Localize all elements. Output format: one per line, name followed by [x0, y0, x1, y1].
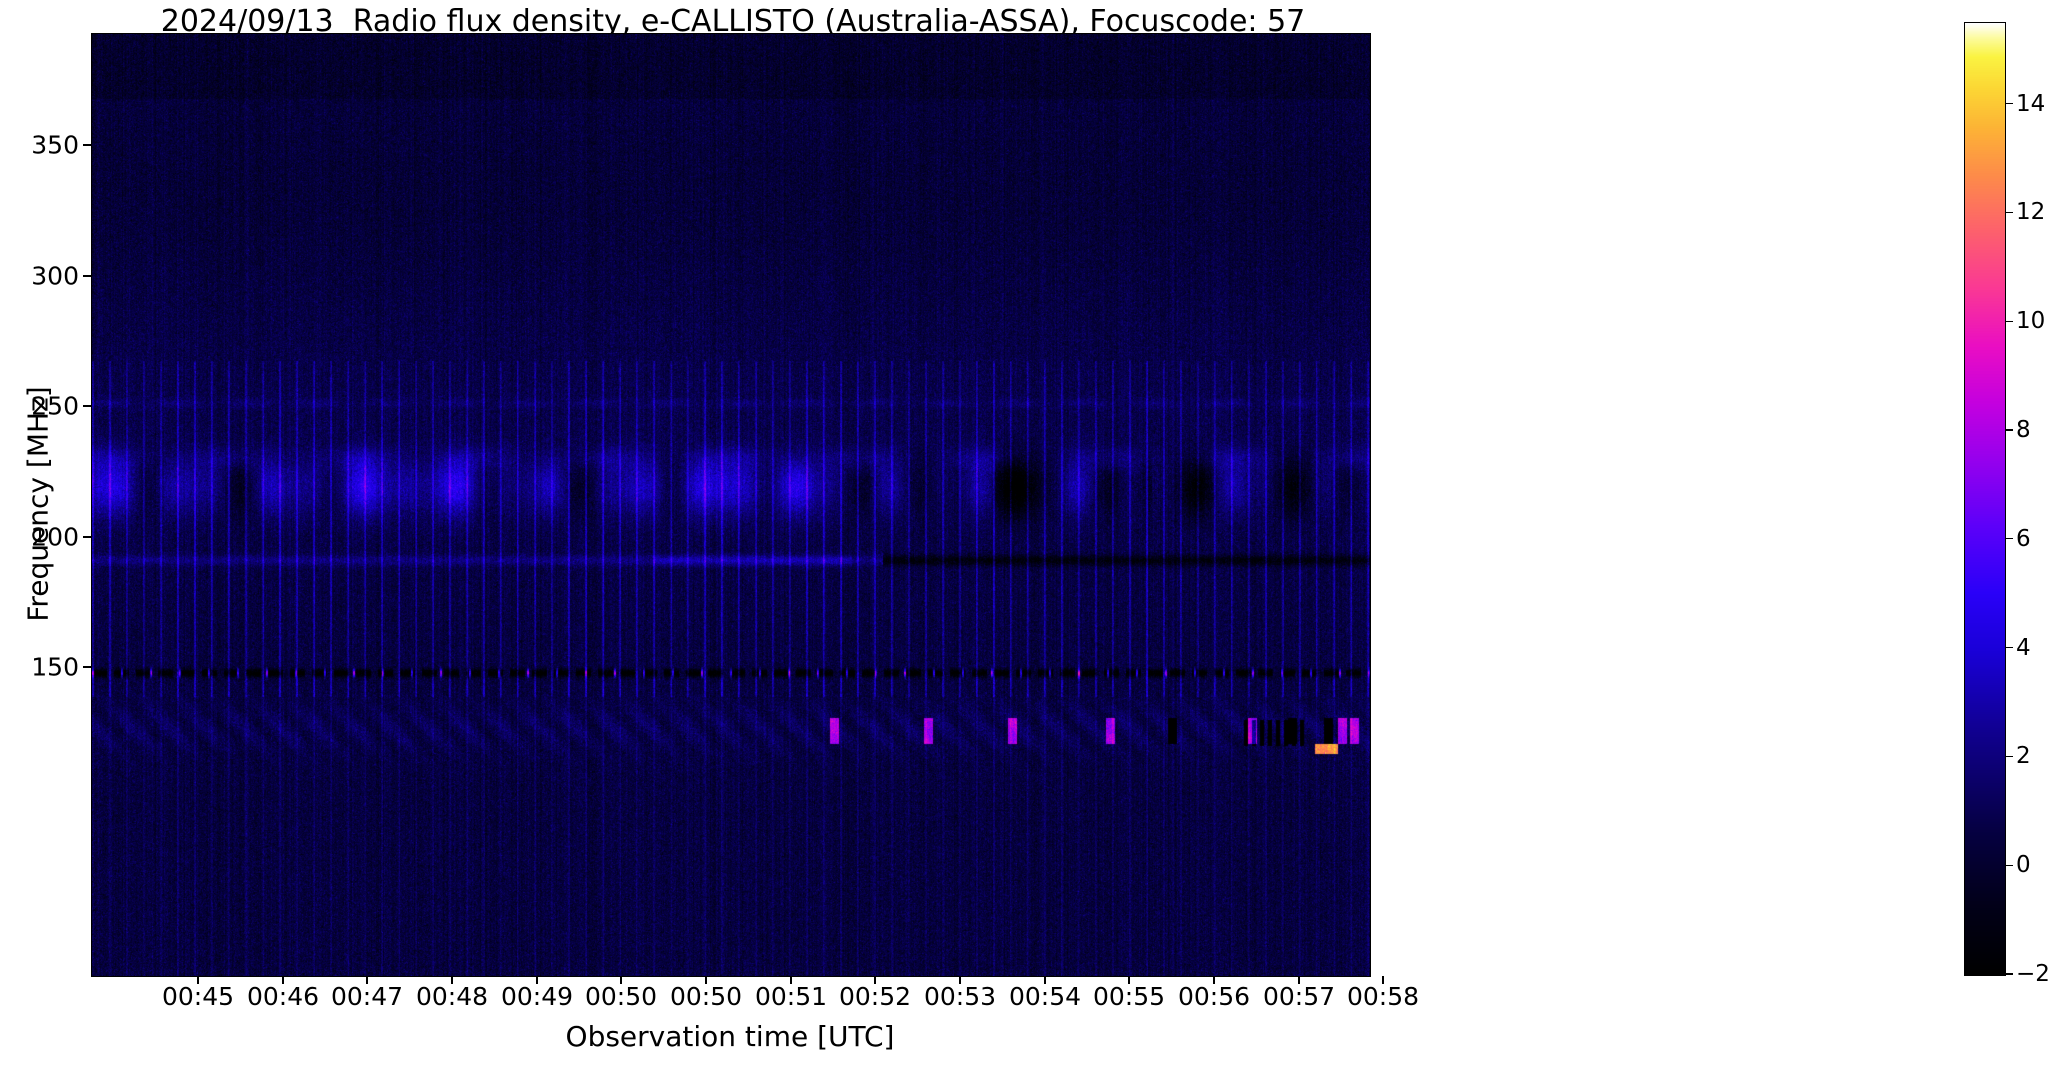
y-tick-mark: [83, 144, 91, 145]
colorbar-tick-label: 10: [2016, 308, 2066, 334]
spectrogram-axes[interactable]: [91, 33, 1371, 977]
colorbar-tick-label: 0: [2016, 852, 2066, 878]
colorbar-tick-mark: [2006, 321, 2013, 322]
colorbar-tick-label: 14: [2016, 91, 2066, 117]
colorbar-tick-label: 12: [2016, 199, 2066, 225]
y-tick-mark: [83, 405, 91, 406]
y-tick-mark: [83, 275, 91, 276]
colorbar-tick-mark: [2006, 973, 2013, 974]
colorbar-axes[interactable]: [1964, 22, 2006, 976]
x-tick-label: 00:58: [1303, 982, 1463, 1011]
x-axis-label: Observation time [UTC]: [91, 1020, 1369, 1053]
y-axis-label-holder: Frequency [MHz]: [18, 33, 48, 975]
colorbar-tick-mark: [2006, 103, 2013, 104]
spectrogram-image: [92, 34, 1370, 976]
colorbar-tick-mark: [2006, 647, 2013, 648]
y-tick-label: 150: [0, 653, 79, 682]
colorbar-tick-label: −2: [2016, 961, 2066, 987]
colorbar-tick-label: 8: [2016, 417, 2066, 443]
colorbar-tick-mark: [2006, 212, 2013, 213]
y-tick-label: 300: [0, 262, 79, 291]
colorbar-tick-mark: [2006, 429, 2013, 430]
y-tick-mark: [83, 536, 91, 537]
y-axis-label: Frequency [MHz]: [22, 294, 55, 714]
y-tick-label: 350: [0, 131, 79, 160]
colorbar-tick-mark: [2006, 865, 2013, 866]
y-tick-label: 250: [0, 392, 79, 421]
colorbar-tick-mark: [2006, 538, 2013, 539]
figure-canvas: 2024/09/13 Radio flux density, e-CALLIST…: [0, 0, 2066, 1067]
colorbar-image: [1965, 23, 2005, 975]
colorbar-tick-label: 6: [2016, 526, 2066, 552]
colorbar-tick-label: 4: [2016, 635, 2066, 661]
y-tick-label: 200: [0, 523, 79, 552]
y-tick-mark: [83, 666, 91, 667]
colorbar-tick-label: 2: [2016, 743, 2066, 769]
colorbar-tick-mark: [2006, 756, 2013, 757]
